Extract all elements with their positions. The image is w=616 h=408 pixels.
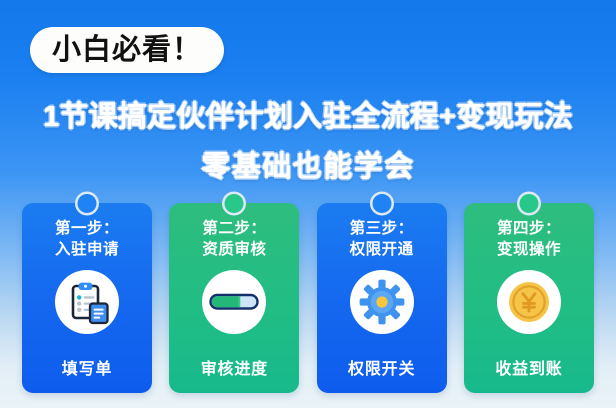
progress-bar-icon <box>202 270 266 334</box>
step-card-4[interactable]: 第四步： 变现操作 收益到账 <box>464 203 594 393</box>
step-node-dot-icon <box>78 194 97 213</box>
step-footer-1: 填写单 <box>22 355 152 379</box>
step-node-dot-icon <box>519 194 538 213</box>
step-title-1: 第一步： <box>55 219 119 240</box>
step-title-2: 第二步： <box>202 219 266 240</box>
gear-switch-icon <box>350 270 414 334</box>
clipboard-form-icon <box>55 270 119 334</box>
headline-secondary: 零基础也能学会 <box>0 143 616 185</box>
step-subtitle-1: 入驻申请 <box>55 240 119 261</box>
step-title-4: 第四步： <box>497 219 561 240</box>
step-title-3: 第三步： <box>350 219 414 240</box>
step-card-3[interactable]: 第三步： 权限开通 <box>317 203 447 393</box>
step-subtitle-4: 变现操作 <box>497 240 561 261</box>
headline-primary: 1节课搞定伙伴计划入驻全流程+变现玩法 <box>0 93 616 135</box>
step-footer-4: 收益到账 <box>464 355 594 379</box>
step-footer-3: 权限开关 <box>317 355 447 379</box>
promo-poster: 小白必看！ 1节课搞定伙伴计划入驻全流程+变现玩法 零基础也能学会 第一步： 入… <box>0 0 616 408</box>
attention-badge-label: 小白必看！ <box>52 36 202 65</box>
yuan-coin-icon <box>497 270 561 334</box>
step-footer-2: 审核进度 <box>169 355 299 379</box>
step-card-2[interactable]: 第二步： 资质审核 审核进度 <box>169 203 299 393</box>
attention-badge: 小白必看！ <box>30 27 224 73</box>
step-node-dot-icon <box>225 194 244 213</box>
step-subtitle-3: 权限开通 <box>350 240 414 261</box>
step-node-dot-icon <box>372 194 391 213</box>
step-subtitle-2: 资质审核 <box>202 240 266 261</box>
step-card-1[interactable]: 第一步： 入驻申请 填写单 <box>22 203 152 393</box>
steps-row: 第一步： 入驻申请 填写单 <box>22 203 594 393</box>
